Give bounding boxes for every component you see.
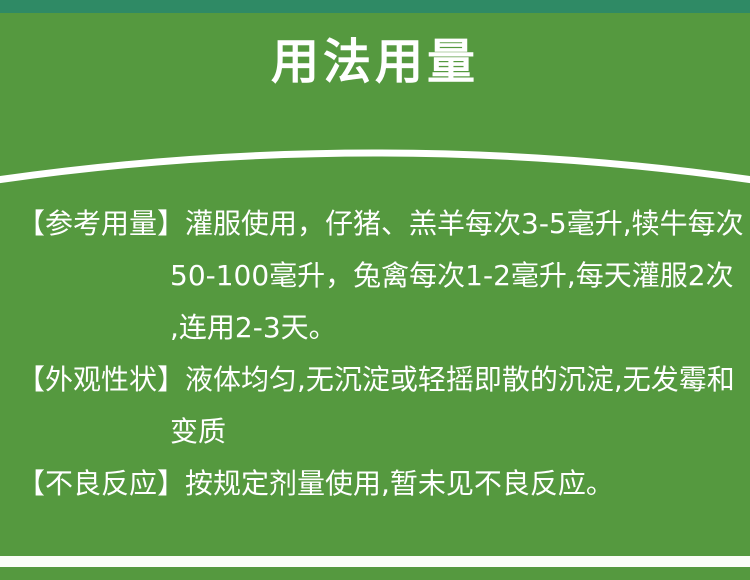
section-appearance-line-2: 变质 bbox=[0, 406, 750, 458]
decorative-arc-icon bbox=[0, 113, 750, 188]
section-reference-dosage-line-1: 【参考用量】灌服使用，仔猪、羔羊每次3-5毫升,犊牛每次 bbox=[0, 198, 750, 250]
section-reference-dosage-line-2: 50-100毫升，兔禽每次1-2毫升,每天灌服2次 bbox=[0, 250, 750, 302]
bottom-divider bbox=[0, 556, 750, 567]
section-adverse-reactions-line-1: 【不良反应】按规定剂量使用,暂未见不良反应。 bbox=[0, 458, 750, 510]
page-title: 用法用量 bbox=[0, 35, 750, 90]
section-adverse-reactions: 【不良反应】按规定剂量使用,暂未见不良反应。 bbox=[0, 458, 750, 510]
header-band: 用法用量 bbox=[0, 13, 750, 188]
bottom-fill-strip bbox=[0, 567, 750, 580]
section-appearance-line-1: 【外观性状】液体均匀,无沉淀或轻摇即散的沉淀,无发霉和 bbox=[0, 354, 750, 406]
section-appearance: 【外观性状】液体均匀,无沉淀或轻摇即散的沉淀,无发霉和 变质 bbox=[0, 354, 750, 458]
content-body: 【参考用量】灌服使用，仔猪、羔羊每次3-5毫升,犊牛每次 50-100毫升，兔禽… bbox=[0, 198, 750, 510]
usage-and-dosage-panel: 用法用量 【参考用量】灌服使用，仔猪、羔羊每次3-5毫升,犊牛每次 50-100… bbox=[0, 0, 750, 580]
section-reference-dosage: 【参考用量】灌服使用，仔猪、羔羊每次3-5毫升,犊牛每次 50-100毫升，兔禽… bbox=[0, 198, 750, 354]
section-reference-dosage-line-3: ,连用2-3天。 bbox=[0, 302, 750, 354]
top-accent-strip bbox=[0, 0, 750, 13]
